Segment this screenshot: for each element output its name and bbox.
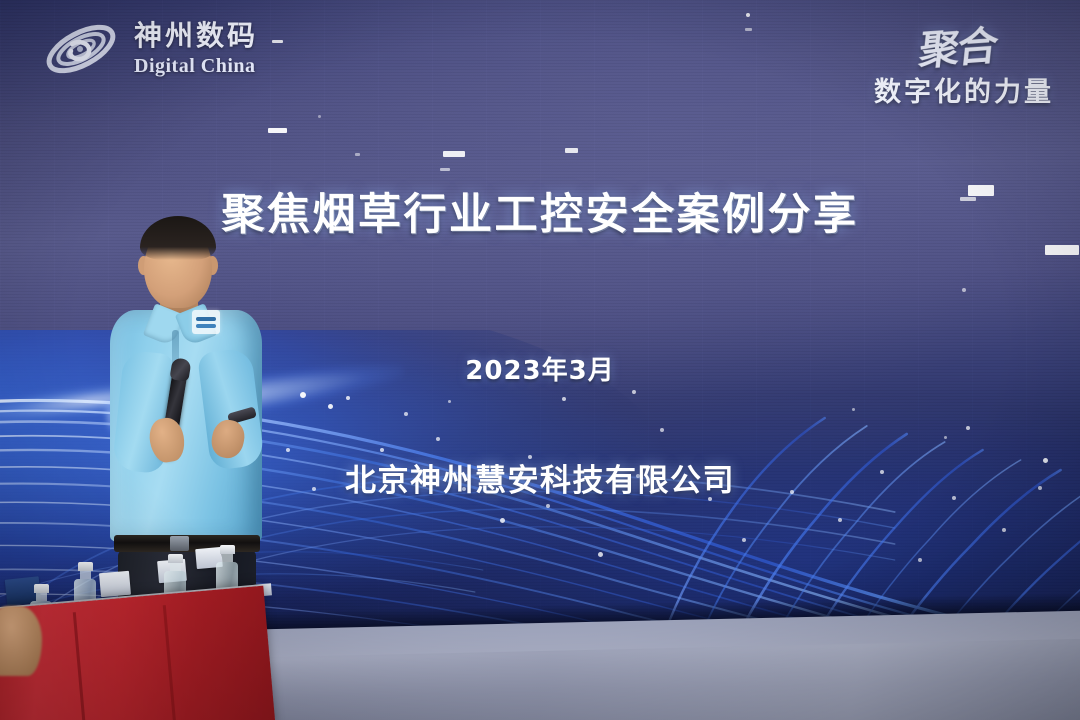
speaker-hair (140, 216, 216, 260)
digital-china-swirl-icon (42, 18, 120, 80)
brand-logo: 神州数码 Digital China (42, 18, 258, 80)
conference-stage-photo: 神州数码 Digital China 聚合 数字化的力量 聚焦烟草行业工控安全案… (0, 0, 1080, 720)
foreground-attendee (0, 606, 42, 676)
brand-text-block: 神州数码 Digital China (134, 22, 258, 76)
speaker-shirt-logo (192, 310, 220, 334)
name-card (99, 571, 131, 598)
slogan-brush-text: 聚合 (917, 13, 1000, 76)
slogan-sub-text: 数字化的力量 (874, 70, 1054, 109)
brand-name-en: Digital China (134, 56, 258, 76)
brand-name-cn: 神州数码 (134, 22, 258, 50)
red-tablecloth (0, 586, 276, 720)
speaker-belt-buckle (170, 536, 189, 551)
event-slogan: 聚合 数字化的力量 (874, 16, 1054, 109)
